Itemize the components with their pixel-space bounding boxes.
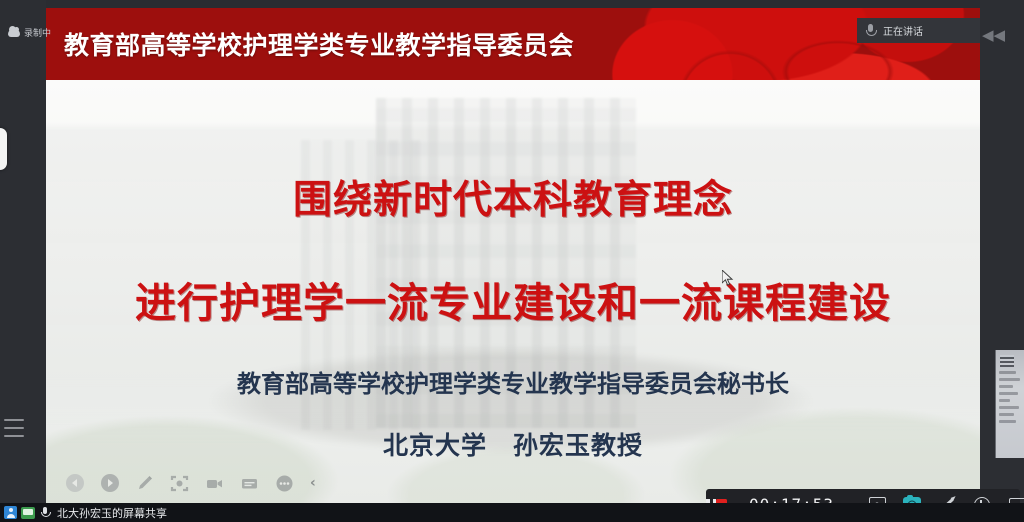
comment-icon[interactable]	[240, 474, 259, 493]
list-icon[interactable]	[4, 419, 24, 437]
speaking-label: 正在讲话	[883, 23, 923, 38]
slide-subtitle-line-2: 北京大学 孙宏玉教授	[46, 426, 980, 462]
participant-icon[interactable]	[4, 506, 17, 519]
right-rail: ◀◀	[980, 0, 1024, 522]
taskbar: 北大孙宏玉的屏幕共享	[0, 503, 1024, 522]
presentation-banner: 教育部高等学校护理学类专业教学指导委员会	[46, 8, 980, 80]
mouse-cursor-icon	[722, 270, 734, 287]
slide-title-line-1: 围绕新时代本科教育理念	[46, 169, 980, 225]
slide-subtitle-line-1: 教育部高等学校护理学类专业教学指导委员会秘书长	[46, 364, 980, 399]
recording-label: 录制中	[24, 26, 51, 39]
focus-frame-icon[interactable]	[170, 474, 189, 493]
annotation-toolbar[interactable]: ‹	[55, 469, 326, 497]
taskbar-label: 北大孙宏玉的屏幕共享	[57, 505, 167, 521]
recording-indicator: 录制中	[8, 26, 51, 39]
microphone-icon[interactable]	[39, 506, 50, 519]
slide-title-line-2: 进行护理学一流专业建设和一流课程建设	[46, 269, 980, 329]
video-camera-icon[interactable]	[205, 474, 224, 493]
collapse-button[interactable]: ‹	[310, 475, 316, 491]
left-rail	[0, 0, 46, 522]
panel-handle[interactable]	[0, 128, 7, 170]
ellipsis-icon[interactable]	[275, 474, 294, 493]
pen-icon[interactable]	[135, 474, 154, 493]
play-button[interactable]	[100, 474, 119, 493]
taskbar-icons[interactable]	[0, 506, 50, 519]
banner-title: 教育部高等学校护理学类专业教学指导委员会	[64, 26, 574, 62]
double-chevron-left-icon[interactable]: ◀◀	[982, 24, 1022, 46]
shared-screen: 教育部高等学校护理学类专业教学指导委员会 围绕新时代本科教育理念 进行护理学一流…	[46, 8, 980, 503]
meeting-window: ◀◀ 教育部高等学校护理学类专业教学指导委员会 围	[0, 0, 1024, 522]
slide-canvas: 围绕新时代本科教育理念 进行护理学一流专业建设和一流课程建设 教育部高等学校护理…	[46, 80, 980, 503]
previous-button[interactable]	[65, 474, 84, 493]
speaking-indicator: 正在讲话	[857, 18, 980, 43]
cloud-icon	[8, 29, 20, 37]
slide-thumbnail-panel[interactable]	[995, 350, 1024, 458]
screen-share-icon[interactable]	[21, 507, 35, 519]
microphone-icon	[866, 24, 875, 37]
